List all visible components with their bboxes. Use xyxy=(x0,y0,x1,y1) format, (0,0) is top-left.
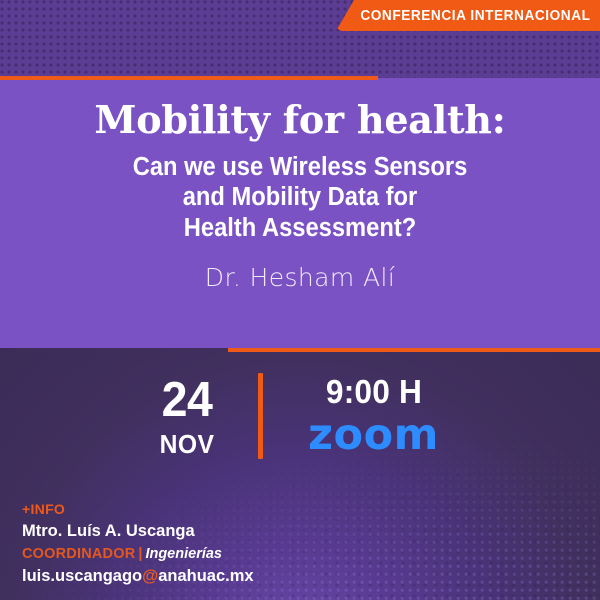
subtitle-line: and Mobility Data for xyxy=(21,182,579,212)
info-label: +INFO xyxy=(22,500,254,518)
conference-poster: CONFERENCIA INTERNACIONAL Mobility for h… xyxy=(0,0,600,600)
contact-role: COORDINADOR xyxy=(22,546,135,562)
vertical-divider xyxy=(258,373,263,459)
contact-role-line: COORDINADOR|Ingenierías xyxy=(22,545,254,564)
role-separator: | xyxy=(135,546,145,562)
at-sign-icon: @ xyxy=(142,567,158,585)
event-month: NOV xyxy=(144,431,230,457)
divider-rule-middle xyxy=(228,348,600,352)
event-time: 9:00 H xyxy=(292,375,455,408)
subtitle: Can we use Wireless Sensors and Mobility… xyxy=(21,152,579,243)
email-user: luis.uscangago xyxy=(22,567,142,585)
contact-name: Mtro. Luís A. Uscanga xyxy=(22,521,254,543)
ribbon-label: CONFERENCIA INTERNACIONAL xyxy=(360,8,590,24)
page-title: Mobility for health: xyxy=(0,100,600,140)
event-date: 24 NOV xyxy=(142,376,232,457)
schedule-row: 24 NOV 9:00 H zoom xyxy=(0,367,600,465)
subtitle-line: Health Assessment? xyxy=(21,213,579,243)
event-day: 24 xyxy=(144,376,230,425)
contact-email[interactable]: luis.uscangago@anahuac.mx xyxy=(22,566,254,588)
divider-rule-top xyxy=(0,76,378,80)
conference-ribbon: CONFERENCIA INTERNACIONAL xyxy=(336,0,600,31)
email-domain: anahuac.mx xyxy=(158,567,253,585)
speaker-name: Dr. Hesham Alí xyxy=(0,263,600,292)
title-block: Mobility for health: Can we use Wireless… xyxy=(0,100,600,292)
contact-block: +INFO Mtro. Luís A. Uscanga COORDINADOR|… xyxy=(22,500,254,588)
zoom-logo: zoom xyxy=(289,414,459,457)
subtitle-line: Can we use Wireless Sensors xyxy=(21,152,579,182)
event-time-platform: 9:00 H zoom xyxy=(289,375,459,457)
contact-department: Ingenierías xyxy=(145,546,222,562)
